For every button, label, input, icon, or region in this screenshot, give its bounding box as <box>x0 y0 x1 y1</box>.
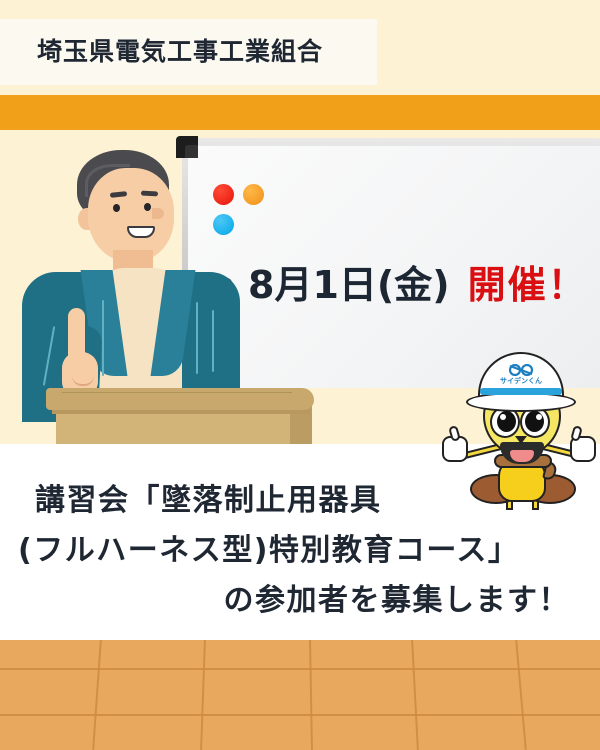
podium-body <box>56 412 298 444</box>
mascot-helmet-logo-icon <box>506 363 536 375</box>
event-date: 8月1日(金) <box>248 263 450 307</box>
copy-line-2: (フルハーネス型)特別教育コース」 <box>18 525 519 569</box>
orange-divider-stripe <box>0 95 600 130</box>
mascot-eye-gleam-left <box>500 414 506 420</box>
floor-line-vertical <box>92 640 102 750</box>
speaker-eye-left <box>113 204 120 212</box>
floor-line-horizontal <box>0 668 600 670</box>
floor-line-horizontal <box>0 714 600 716</box>
floor-line-vertical <box>515 640 527 750</box>
magnet-red-icon <box>213 184 234 205</box>
mascot-eye-gleam-right <box>536 414 542 420</box>
speaker-jacket-seam <box>212 310 214 372</box>
magnet-blue-icon <box>213 214 234 235</box>
event-emphasis: 開催！ <box>468 263 588 307</box>
mascot-helmet-brim <box>466 392 576 412</box>
floor-line-vertical <box>411 640 419 750</box>
floor-area <box>0 640 600 750</box>
header-band: 埼玉県電気工事工業組合 <box>0 0 600 95</box>
mascot-helmet-band <box>480 388 562 395</box>
speaker-eyebrow-right <box>141 191 158 197</box>
speaker-jacket-seam <box>102 300 104 376</box>
speaker-jacket-seam <box>196 302 198 374</box>
floor-line-vertical <box>309 640 313 750</box>
copy-line-1: 講習会「墜落制止用器具 <box>35 475 382 519</box>
poster-root: 埼玉県電気工事工業組合 8月1日(金)開催！ <box>0 0 600 750</box>
podium-detail-line <box>62 392 292 393</box>
whiteboard-date-text: 8月1日(金)開催！ <box>248 254 588 309</box>
floor-line-vertical <box>200 640 206 750</box>
magnet-orange-icon <box>243 184 264 205</box>
speaker-nose <box>152 208 164 219</box>
speaker-eye-right <box>144 203 151 211</box>
mascot-helmet-label: サイデンくん <box>478 376 564 386</box>
page-title: 埼玉県電気工事工業組合 <box>37 30 323 74</box>
mascot-nose <box>515 436 527 444</box>
copy-line-3: の参加者を募集します！ <box>0 575 600 619</box>
whiteboard-corner-bracket <box>176 136 198 158</box>
